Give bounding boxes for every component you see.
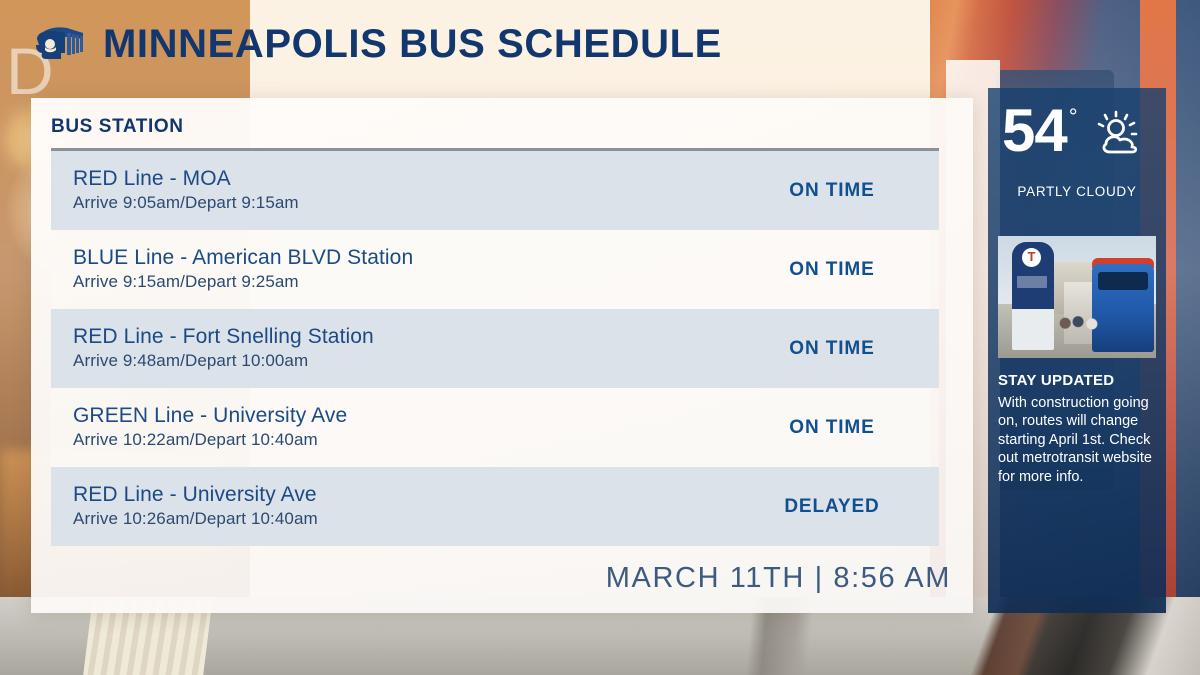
metro-transit-t-logo-icon bbox=[1022, 248, 1041, 267]
route-name: RED Line - Fort Snelling Station bbox=[73, 325, 374, 349]
route-name: GREEN Line - University Ave bbox=[73, 404, 347, 428]
degree-symbol: ° bbox=[1069, 106, 1078, 128]
route-name: BLUE Line - American BLVD Station bbox=[73, 246, 413, 270]
info-sidebar: 54 ° PARTLY CLOUDY bbox=[988, 88, 1166, 613]
screen: D MINNEAPOLIS BUS SCHEDULE BUS STATION bbox=[0, 0, 1200, 675]
metro-transit-station-photo bbox=[998, 236, 1156, 358]
status-badge: ON TIME bbox=[747, 180, 917, 202]
table-row[interactable]: RED Line - University Ave Arrive 10:26am… bbox=[51, 467, 939, 546]
photo-passengers bbox=[1056, 308, 1102, 346]
schedule-card: BUS STATION RED Line - MOA Arrive 9:05am… bbox=[31, 98, 973, 613]
row-info: GREEN Line - University Ave Arrive 10:22… bbox=[73, 404, 347, 451]
table-row[interactable]: GREEN Line - University Ave Arrive 10:22… bbox=[51, 388, 939, 467]
status-badge: DELAYED bbox=[747, 496, 917, 518]
section-title: BUS STATION bbox=[51, 116, 184, 138]
row-info: RED Line - Fort Snelling Station Arrive … bbox=[73, 325, 374, 372]
sun-behind-cloud-icon bbox=[1096, 110, 1148, 158]
temperature-value: 54 bbox=[1002, 102, 1067, 159]
page-title: MINNEAPOLIS BUS SCHEDULE bbox=[103, 22, 722, 67]
row-info: RED Line - MOA Arrive 9:05am/Depart 9:15… bbox=[73, 167, 299, 214]
route-times: Arrive 9:15am/Depart 9:25am bbox=[73, 272, 413, 292]
status-badge: ON TIME bbox=[747, 338, 917, 360]
route-times: Arrive 10:22am/Depart 10:40am bbox=[73, 430, 347, 450]
notice-heading: STAY UPDATED bbox=[998, 372, 1114, 389]
weather-condition: PARTLY CLOUDY bbox=[988, 184, 1166, 199]
photo-bus-windshield bbox=[1098, 272, 1148, 290]
route-times: Arrive 9:05am/Depart 9:15am bbox=[73, 193, 299, 213]
schedule-table: RED Line - MOA Arrive 9:05am/Depart 9:15… bbox=[51, 148, 939, 546]
table-row[interactable]: BLUE Line - American BLVD Station Arrive… bbox=[51, 230, 939, 309]
route-times: Arrive 9:48am/Depart 10:00am bbox=[73, 351, 374, 371]
route-times: Arrive 10:26am/Depart 10:40am bbox=[73, 509, 318, 529]
bus-front-icon bbox=[31, 23, 87, 67]
table-row[interactable]: RED Line - MOA Arrive 9:05am/Depart 9:15… bbox=[51, 151, 939, 230]
route-name: RED Line - MOA bbox=[73, 167, 299, 191]
notice-body: With construction going on, routes will … bbox=[998, 394, 1158, 486]
date-time-stamp: MARCH 11TH | 8:56 AM bbox=[606, 562, 951, 595]
row-info: RED Line - University Ave Arrive 10:26am… bbox=[73, 483, 318, 530]
weather-widget: 54 ° PARTLY CLOUDY bbox=[988, 88, 1166, 218]
status-badge: ON TIME bbox=[747, 417, 917, 439]
status-badge: ON TIME bbox=[747, 259, 917, 281]
photo-pylon-label bbox=[1017, 276, 1047, 288]
table-row[interactable]: RED Line - Fort Snelling Station Arrive … bbox=[51, 309, 939, 388]
row-info: BLUE Line - American BLVD Station Arrive… bbox=[73, 246, 413, 293]
temperature-group: 54 ° bbox=[1002, 102, 1078, 159]
header: MINNEAPOLIS BUS SCHEDULE bbox=[31, 22, 722, 67]
route-name: RED Line - University Ave bbox=[73, 483, 318, 507]
